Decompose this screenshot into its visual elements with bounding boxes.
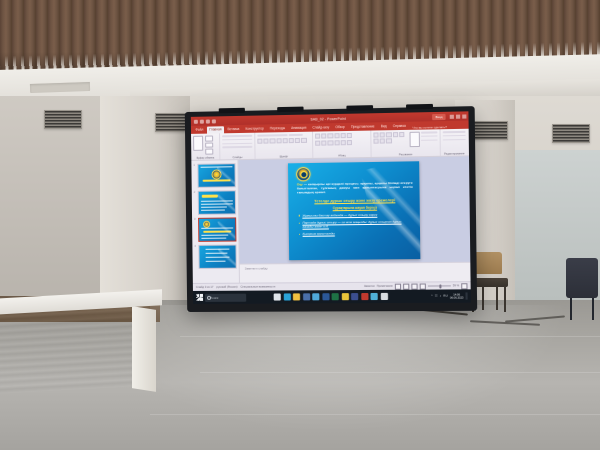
- align-left-icon[interactable]: [315, 141, 320, 146]
- ribbon-group-font-label: Шрифт: [258, 155, 311, 159]
- slide-thumbnail-2[interactable]: [198, 190, 236, 215]
- slide-sorter-icon[interactable]: [403, 283, 409, 289]
- sign-in-button[interactable]: Вход: [432, 113, 445, 119]
- system-tray[interactable]: ^ ☷ ♪ RU 14:06 06.06.2023: [431, 292, 467, 299]
- list-buttons[interactable]: [315, 133, 352, 139]
- task-view-icon[interactable]: [274, 293, 281, 300]
- numbering-icon[interactable]: [321, 133, 326, 138]
- editing-tools[interactable]: [443, 130, 466, 153]
- shadow-icon[interactable]: [282, 138, 287, 143]
- vent-right-near: [470, 121, 508, 140]
- taskbar-clock-date[interactable]: 06.06.2023: [450, 296, 464, 299]
- columns-icon[interactable]: [340, 140, 345, 145]
- shape-triangle-icon[interactable]: [399, 132, 404, 137]
- dark-chair: [566, 258, 600, 320]
- word-icon[interactable]: [322, 293, 329, 300]
- ribbon-group-editing-label: Редактирование: [443, 152, 466, 155]
- show-desktop-button[interactable]: [465, 292, 467, 299]
- status-slide-indicator: Слайд 3 из 17: [196, 286, 214, 289]
- font-size-dropdown[interactable]: [289, 134, 303, 136]
- shape-more-icon[interactable]: [386, 138, 391, 143]
- slide-bullet-1: Жұмысты бастау алдында — дұрыс отыру кер…: [297, 212, 413, 217]
- podium: [0, 294, 162, 394]
- status-accessibility[interactable]: Специальные возможности: [241, 285, 276, 288]
- normal-view-icon[interactable]: [395, 283, 401, 289]
- notes-pane[interactable]: Заметки к слайду: [240, 262, 471, 283]
- ribbon-group-clipboard[interactable]: Буфер обмена: [191, 133, 220, 160]
- change-case-icon[interactable]: [295, 138, 300, 143]
- floor-reflection: [150, 305, 600, 450]
- chrome-icon[interactable]: [370, 293, 377, 300]
- thumbnail-number-4: 4: [194, 245, 197, 248]
- floor-tile-line-1: [180, 336, 600, 337]
- slide-editing-stage: Оқу — көпқырлы әрі күрделі процесс: әрқи…: [238, 156, 470, 282]
- lecture-hall-scene: SAB_02 - PowerPoint Вход Файл Главная Вс…: [0, 0, 600, 450]
- slide-thumbnail-1[interactable]: [197, 163, 235, 188]
- slideshow-icon[interactable]: [419, 283, 425, 289]
- slide-definition: Оқу — көпқырлы әрі күрделі процесс: әрқи…: [297, 180, 413, 194]
- close-icon[interactable]: [462, 114, 466, 118]
- maximize-icon[interactable]: [456, 114, 460, 118]
- taskbar-pinned-icons[interactable]: [274, 293, 388, 301]
- zoom-slider[interactable]: [428, 285, 451, 286]
- floor-tile-line-3: [150, 414, 600, 415]
- thumbnail-3-seal-icon: [203, 221, 210, 228]
- thumbnail-streak: [217, 163, 236, 188]
- windows-taskbar[interactable]: Поиск ^ ☷ ♪: [193, 289, 471, 304]
- ribbon-group-paragraph[interactable]: Абзац: [313, 131, 372, 158]
- slide-thumbnail-panel[interactable]: 1 2: [191, 160, 240, 283]
- floor-tile-line-2: [200, 372, 600, 373]
- font-style-buttons[interactable]: [257, 138, 306, 144]
- dark-chair-leg-1: [570, 298, 572, 320]
- italic-icon[interactable]: [264, 138, 269, 143]
- slide-bullet-2: Партада дұрыс отыру — ол өте маңызды: дұ…: [297, 220, 413, 229]
- thumbnail-item-2[interactable]: 2: [194, 190, 236, 215]
- ceiling-light-slot-1: [30, 81, 90, 93]
- dark-chair-cover: [566, 258, 598, 298]
- mount-clip-2: [277, 107, 303, 113]
- ribbon[interactable]: Буфер обмена Слайды: [191, 129, 469, 161]
- ribbon-group-clipboard-label: Буфер обмена: [193, 156, 217, 159]
- status-bar-right[interactable]: Заметки Примечания 59 %: [364, 283, 468, 290]
- font-family-dropdown[interactable]: [257, 134, 287, 136]
- yandex-icon[interactable]: [341, 293, 348, 300]
- status-language[interactable]: русский (Россия): [216, 286, 237, 289]
- volume-icon[interactable]: ♪: [440, 294, 442, 299]
- copy-icon[interactable]: [205, 142, 213, 148]
- ribbon-group-slides-label: Слайды: [222, 156, 252, 160]
- status-comments-button[interactable]: Примечания: [377, 285, 393, 288]
- reset-button[interactable]: [222, 142, 252, 144]
- slide-definition-text: — көпқырлы әрі күрделі процесс: әрқилы, …: [297, 180, 413, 194]
- vent-right-far: [552, 124, 590, 143]
- align-center-icon[interactable]: [321, 141, 326, 146]
- edge-browser-icon[interactable]: [283, 293, 290, 300]
- select-button[interactable]: [443, 139, 466, 141]
- shape-rect-icon[interactable]: [373, 132, 378, 137]
- ribbon-group-paragraph-label: Абзац: [315, 154, 368, 158]
- justify-icon[interactable]: [334, 140, 339, 145]
- display-screen: SAB_02 - PowerPoint Вход Файл Главная Вс…: [191, 111, 471, 304]
- minimize-icon[interactable]: [450, 114, 454, 118]
- shape-effects-button[interactable]: [421, 139, 437, 141]
- podium-side-panel: [132, 306, 156, 392]
- section-button[interactable]: [222, 146, 252, 148]
- quick-styles-icon[interactable]: [409, 132, 419, 147]
- bold-icon[interactable]: [257, 138, 262, 143]
- notepad-icon[interactable]: [380, 293, 387, 300]
- shape-fill-button[interactable]: [421, 131, 437, 133]
- thumbnail-item-1[interactable]: 1: [193, 163, 235, 188]
- network-icon[interactable]: ☷: [435, 294, 438, 299]
- shape-callout-icon[interactable]: [380, 139, 385, 144]
- cut-icon[interactable]: [205, 136, 213, 142]
- increase-indent-icon[interactable]: [334, 133, 339, 138]
- start-menu-icon[interactable]: [196, 294, 203, 301]
- fit-slide-icon[interactable]: [461, 283, 467, 289]
- zoom-slider-handle[interactable]: [439, 284, 441, 288]
- align-buttons[interactable]: [315, 140, 352, 146]
- thumbnail-number-3: 3: [194, 218, 197, 221]
- chair-backrest: [474, 252, 502, 274]
- clipboard-tools[interactable]: [193, 134, 217, 156]
- dark-chair-leg-2: [592, 298, 594, 320]
- photos-icon[interactable]: [312, 293, 319, 300]
- ribbon-group-drawing-label: Рисование: [374, 153, 438, 157]
- slide-canvas-area[interactable]: Оқу — көпқырлы әрі күрделі процесс: әрқи…: [238, 156, 470, 263]
- format-painter-icon[interactable]: [205, 149, 213, 155]
- find-button[interactable]: [443, 131, 466, 133]
- thumbnail-2-streak: [217, 190, 236, 215]
- reading-view-icon[interactable]: [411, 283, 417, 289]
- ribbon-group-editing[interactable]: Редактирование: [441, 129, 468, 156]
- thumbnail-4-streak: [218, 245, 237, 269]
- video-player-icon[interactable]: [351, 293, 358, 300]
- ribbon-group-font[interactable]: Шрифт: [255, 132, 313, 159]
- strikethrough-icon[interactable]: [276, 138, 281, 143]
- chair-leg-3: [482, 286, 484, 310]
- store-icon[interactable]: [303, 293, 310, 300]
- shape-star-icon[interactable]: [373, 139, 378, 144]
- bullets-icon[interactable]: [315, 134, 320, 139]
- thumbnail-item-4[interactable]: 4: [194, 245, 236, 269]
- show-hidden-icons-icon[interactable]: ^: [431, 294, 433, 299]
- ribbon-group-drawing[interactable]: Рисование: [371, 129, 441, 157]
- underline-icon[interactable]: [270, 138, 275, 143]
- mount-clip-4: [406, 104, 433, 110]
- paste-icon[interactable]: [193, 136, 203, 151]
- current-slide[interactable]: Оқу — көпқырлы әрі күрделі процесс: әрқи…: [287, 161, 419, 260]
- shape-outline-button[interactable]: [421, 135, 437, 137]
- text-direction-icon[interactable]: [347, 133, 352, 138]
- taskbar-search-input[interactable]: Поиск: [205, 293, 246, 301]
- paragraph-tools[interactable]: [315, 132, 368, 155]
- char-spacing-icon[interactable]: [289, 138, 294, 143]
- slide-thumbnail-3[interactable]: [198, 217, 236, 241]
- mount-clip-1: [219, 108, 245, 114]
- convert-smartart-icon[interactable]: [347, 140, 352, 145]
- line-spacing-icon[interactable]: [340, 133, 345, 138]
- replace-button[interactable]: [443, 135, 466, 137]
- font-color-icon[interactable]: [301, 138, 306, 143]
- vent-left: [44, 110, 82, 129]
- align-right-icon[interactable]: [328, 141, 333, 146]
- thumbnail-2-heading: [202, 195, 218, 198]
- chair-leg-4: [496, 286, 498, 310]
- zoom-level[interactable]: 59 %: [453, 284, 459, 287]
- thumbnail-number-2: 2: [194, 191, 197, 194]
- font-tools[interactable]: [257, 133, 310, 156]
- shape-oval-icon[interactable]: [380, 132, 385, 137]
- powerpoint-workspace: 1 2: [191, 156, 470, 283]
- thumbnail-number-1: 1: [193, 164, 196, 167]
- language-indicator[interactable]: RU: [443, 294, 448, 299]
- window-controls[interactable]: [450, 114, 467, 118]
- led-display[interactable]: SAB_02 - PowerPoint Вход Файл Главная Вс…: [185, 106, 477, 312]
- new-slide-button[interactable]: [222, 135, 252, 137]
- slide-heading-primary: Үстелде дұрыс отыру және жазу ережелері: [297, 198, 413, 204]
- notes-placeholder: Заметки к слайду: [245, 266, 268, 270]
- slides-tools[interactable]: [222, 134, 252, 157]
- slide-thumbnail-4[interactable]: [198, 245, 236, 269]
- shape-line-icon[interactable]: [392, 132, 397, 137]
- chair-leg-2: [504, 286, 506, 312]
- decrease-indent-icon[interactable]: [328, 133, 333, 138]
- status-notes-button[interactable]: Заметки: [364, 285, 375, 288]
- ribbon-group-slides[interactable]: Слайды: [220, 133, 256, 160]
- mount-clip-3: [346, 105, 373, 111]
- podium-front-panel: [0, 302, 136, 394]
- thumbnail-item-3[interactable]: 3: [194, 217, 236, 242]
- file-explorer-icon[interactable]: [293, 293, 300, 300]
- drawing-tools[interactable]: [373, 130, 437, 154]
- layout-button[interactable]: [222, 139, 252, 141]
- slide-emblem-icon: [296, 167, 310, 181]
- powerpoint-icon[interactable]: [361, 293, 368, 300]
- slide-heading-secondary: Сұрақтарына жауап беріңіз: [297, 205, 413, 210]
- slide-text-body[interactable]: Оқу — көпқырлы әрі күрделі процесс: әрқи…: [297, 180, 413, 236]
- excel-icon[interactable]: [332, 293, 339, 300]
- shape-arrow-icon[interactable]: [386, 132, 391, 137]
